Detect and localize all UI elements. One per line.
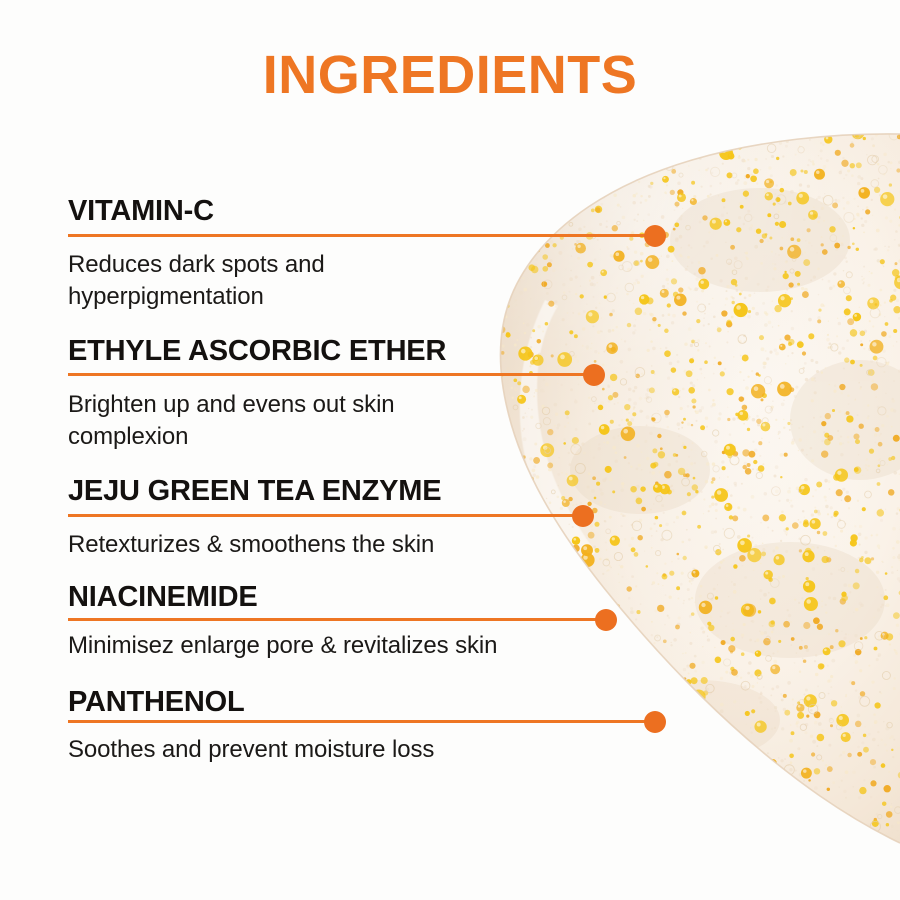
connector-jeju-green-tea-enzyme — [68, 505, 594, 527]
connector-line-vitamin-c — [68, 234, 654, 237]
ingredients-poster: INGREDIENTS VITAMIN-CReduces dark spots … — [0, 0, 900, 900]
ingredient-name-jeju-green-tea-enzyme: JEJU GREEN TEA ENZYME — [68, 476, 441, 506]
connector-dot-panthenol — [644, 711, 666, 733]
ingredient-name-niacinemide: NIACINEMIDE — [68, 582, 258, 612]
connector-line-ethyle-ascorbic-ether — [68, 373, 593, 376]
page-title: INGREDIENTS — [0, 48, 900, 102]
ingredient-description-vitamin-c: Reduces dark spots and hyperpigmentation — [68, 249, 325, 313]
connector-dot-jeju-green-tea-enzyme — [572, 505, 594, 527]
connector-line-jeju-green-tea-enzyme — [68, 514, 582, 517]
connector-vitamin-c — [68, 225, 666, 247]
ingredient-name-ethyle-ascorbic-ether: ETHYLE ASCORBIC ETHER — [68, 336, 446, 366]
connector-ethyle-ascorbic-ether — [68, 364, 605, 386]
connector-dot-ethyle-ascorbic-ether — [583, 364, 605, 386]
connector-dot-vitamin-c — [644, 225, 666, 247]
ingredient-description-jeju-green-tea-enzyme: Retexturizes & smoothens the skin — [68, 529, 434, 561]
ingredient-description-ethyle-ascorbic-ether: Brighten up and evens out skin complexio… — [68, 389, 395, 453]
ingredient-description-niacinemide: Minimisez enlarge pore & revitalizes ski… — [68, 630, 497, 662]
connector-line-niacinemide — [68, 618, 605, 621]
connector-niacinemide — [68, 609, 617, 631]
connector-line-panthenol — [68, 720, 654, 723]
connector-dot-niacinemide — [595, 609, 617, 631]
ingredient-name-vitamin-c: VITAMIN-C — [68, 196, 214, 226]
connector-panthenol — [68, 711, 666, 733]
ingredient-description-panthenol: Soothes and prevent moisture loss — [68, 734, 434, 766]
